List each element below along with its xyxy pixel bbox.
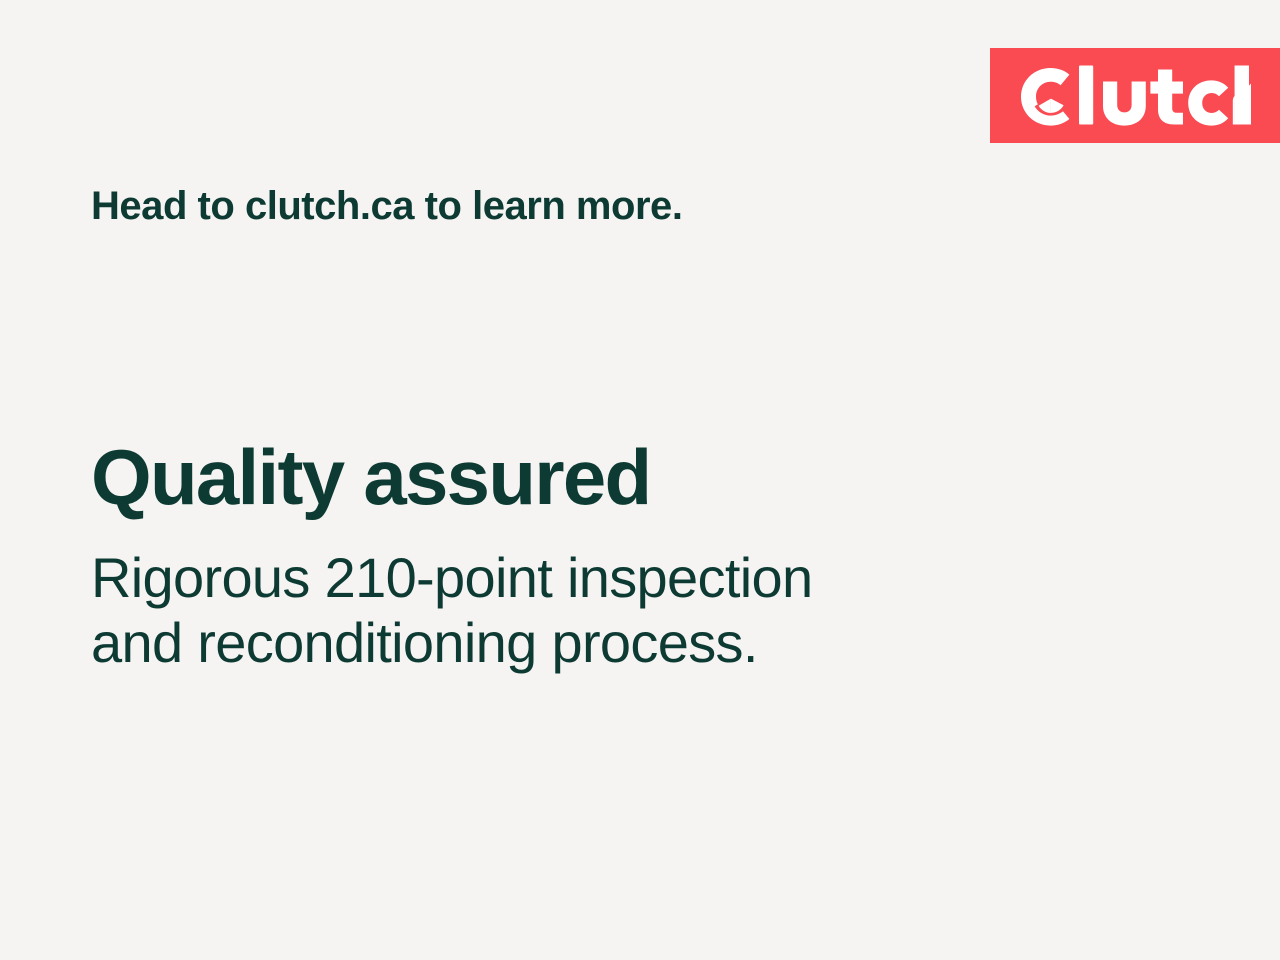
promo-slide: Head to clutch.ca to learn more. Quality… bbox=[0, 0, 1280, 960]
eyebrow-text: Head to clutch.ca to learn more. bbox=[91, 182, 682, 231]
page-title: Quality assured bbox=[91, 436, 651, 519]
subcopy-line-2: and reconditioning process. bbox=[91, 611, 812, 676]
brand-logo-block[interactable] bbox=[990, 48, 1280, 143]
clutch-wordmark-logo bbox=[1019, 65, 1251, 127]
subcopy-line-1: Rigorous 210-point inspection bbox=[91, 546, 812, 611]
subcopy: Rigorous 210-point inspection and recond… bbox=[91, 546, 812, 676]
